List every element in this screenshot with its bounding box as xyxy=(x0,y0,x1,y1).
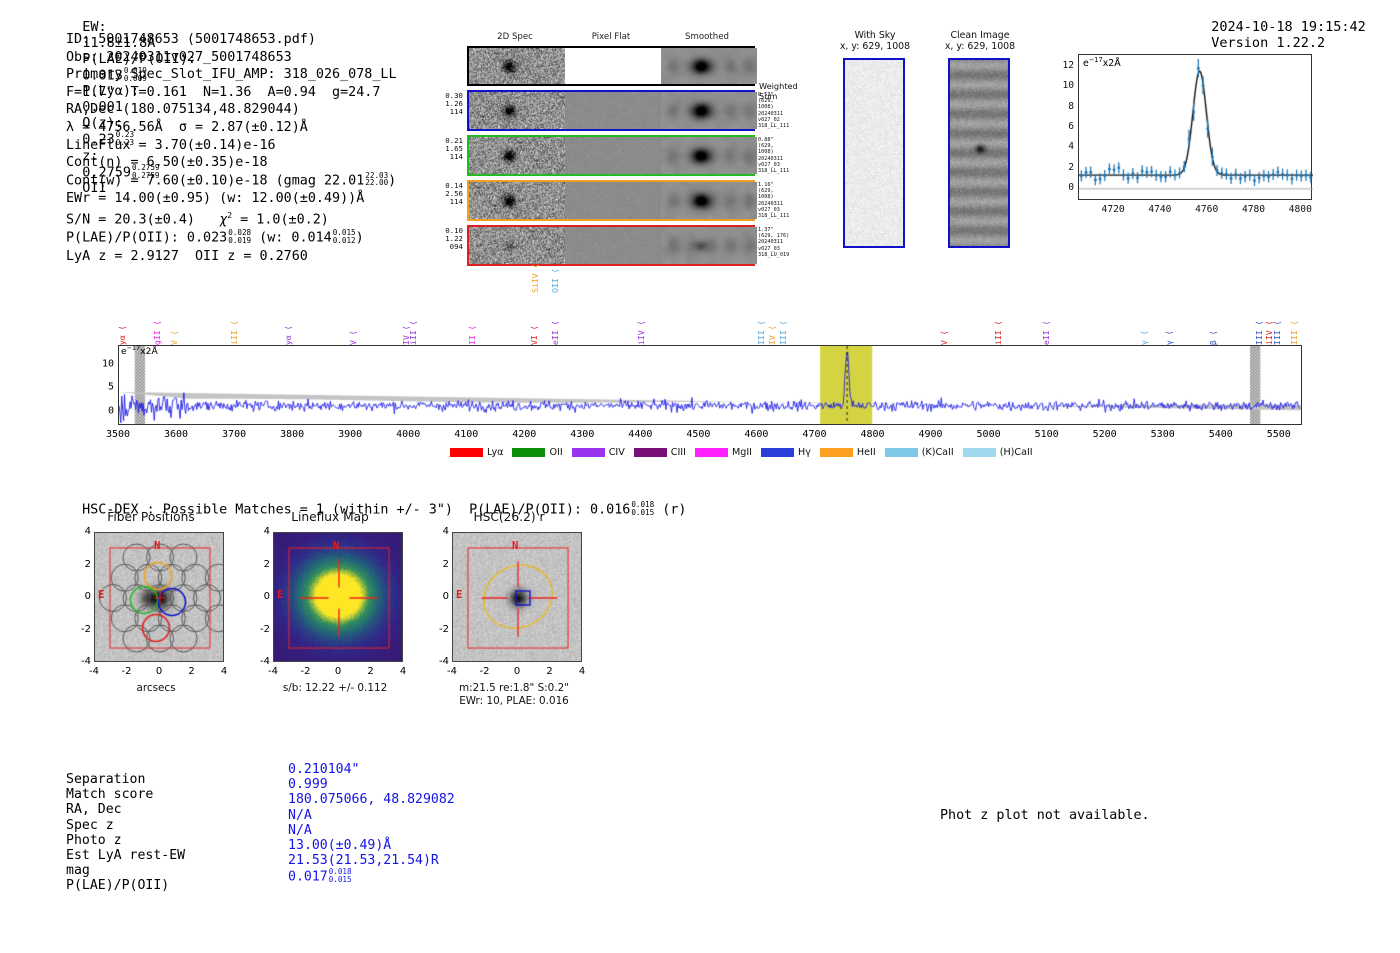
spec2d-row xyxy=(467,135,755,176)
spec2d-row-left-label: 0.211.65114 xyxy=(425,137,463,161)
lineplot-xtick: 4800 xyxy=(1289,204,1312,215)
panel-xlabel: m:21.5 re:1.8" S:0.2" xyxy=(424,682,604,695)
spectrum-line-name: SiIV xyxy=(530,273,540,293)
table-row-key: Est LyA rest-EW xyxy=(66,848,185,863)
panel-xtick: 2 xyxy=(546,666,552,677)
info-plae-w-lower: 0.012 xyxy=(333,237,356,245)
gmag-lower: 22.00 xyxy=(365,179,388,187)
spec2d-row-left-label: 0.142.56114 xyxy=(425,182,463,206)
legend-label: OII xyxy=(549,447,562,458)
legend-swatch xyxy=(695,448,728,457)
spec2d-cell-pixelflat xyxy=(565,48,661,84)
spec2d-meta-line: 318_LL_111 xyxy=(758,168,789,174)
info-lineflux: LineFlux = 3.70(±0.14)e-16 xyxy=(66,137,397,155)
legend-swatch xyxy=(820,448,853,457)
table-row-key: Separation xyxy=(66,772,145,787)
spec2d-cell-smoothed xyxy=(661,92,757,129)
panel-ytick: 0 xyxy=(246,591,270,602)
legend-item: OII xyxy=(512,447,562,458)
header-timestamp-version: 2024-10-18 19:15:42 Version 1.22.2 xyxy=(1195,3,1382,51)
spec2d-cell-smoothed xyxy=(661,182,757,219)
spec2d-row xyxy=(467,225,755,266)
panel-xtick: 0 xyxy=(335,666,341,677)
with-sky-title: With Sky x, y: 629, 1008 xyxy=(820,30,930,52)
panel-sublabel: EWr: 10, PLAE: 0.016 xyxy=(424,695,604,708)
lineplot-ytick: 6 xyxy=(1046,121,1074,132)
lineplot-ytick: 8 xyxy=(1046,101,1074,112)
timestamp: 2024-10-18 19:15:42 xyxy=(1211,19,1365,35)
detection-info-block: ID: 5001748653 (5001748653.pdf) Obs: 202… xyxy=(66,31,397,265)
table-row-value-text: 13.00(±0.49)Å xyxy=(288,838,391,853)
panel-ytick: 4 xyxy=(67,526,91,537)
spectrum-xtick: 3800 xyxy=(280,429,304,440)
table-row-value-text: 0.210104" xyxy=(288,762,359,777)
spectrum-xtick: 4700 xyxy=(802,429,826,440)
info-cont-n: Cont(n) = 6.50(±0.35)e-18 xyxy=(66,154,397,172)
spec2d-row xyxy=(467,90,755,131)
table-row-value-text: 0.017 xyxy=(288,870,328,885)
table-row-value-text: 0.999 xyxy=(288,777,328,792)
spectrum-line-label: SiIV ⟨ xyxy=(530,263,540,293)
clean-image-coords: x, y: 629, 1008 xyxy=(925,41,1035,52)
spec2d-cell-smoothed xyxy=(661,48,757,84)
hsc-plae-lower: 0.015 xyxy=(631,509,654,517)
table-row-key: Photo z xyxy=(66,833,122,848)
spectrum-xtick: 4100 xyxy=(454,429,478,440)
table-row-key: Match score xyxy=(66,787,153,802)
compass-east: E xyxy=(456,589,462,601)
panel-xtick: 2 xyxy=(188,666,194,677)
panel-xtick: 0 xyxy=(156,666,162,677)
spec2d-row-meta-label: 0.88"(629, 1008)20240311v027_03318_LL_11… xyxy=(758,137,789,174)
spec2d-meta-line: (629, 1008) xyxy=(758,143,789,155)
info-cont-w-close: ) xyxy=(388,173,396,188)
clean-image-cutout xyxy=(948,58,1010,248)
legend-label: (H)CaII xyxy=(1000,447,1033,458)
spec2d-meta-line: 318_LL_111 xyxy=(758,123,789,129)
legend-label: (K)CaII xyxy=(922,447,954,458)
spectrum-xtick: 4000 xyxy=(396,429,420,440)
legend-item: Hγ xyxy=(761,447,811,458)
table-row-value: 0.0170.0180.015 xyxy=(288,868,352,885)
spec2d-cell-smoothed xyxy=(661,227,757,264)
table-row-value: N/A xyxy=(288,808,312,823)
spec2d-row xyxy=(467,46,755,86)
spectrum-line-name: OII xyxy=(550,278,560,293)
spec2d-cell-2dspec xyxy=(469,227,565,264)
table-row-value: 0.999 xyxy=(288,777,328,792)
lineplot-ytick: 12 xyxy=(1046,60,1074,71)
info-params: F=1.7" T=0.161 N=1.36 A=0.94 g=24.7 xyxy=(66,84,397,102)
spectrum-line-label: OII ⟨ xyxy=(550,268,560,293)
info-id: ID: 5001748653 (5001748653.pdf) xyxy=(66,31,397,49)
legend-label: Lyα xyxy=(487,447,503,458)
panel-title: HSC(26.2) r xyxy=(424,510,594,524)
spectrum-xtick: 3500 xyxy=(106,429,130,440)
compass-north: N xyxy=(512,540,518,552)
table-row-value-text: N/A xyxy=(288,808,312,823)
spectrum-xtick: 4300 xyxy=(570,429,594,440)
legend-swatch xyxy=(761,448,794,457)
info-ewr: EWr = 14.00(±0.95) (w: 12.00(±0.49))Å xyxy=(66,190,397,208)
lineplot-ytick: 10 xyxy=(1046,80,1074,91)
lineplot-flux-annotation: e−17x2Å xyxy=(1083,56,1121,69)
legend-label: Hγ xyxy=(798,447,811,458)
table-row-value: 21.53(21.53,21.54)R xyxy=(288,853,439,868)
panel-ytick: -4 xyxy=(67,656,91,667)
sn-text: S/N = 20.3(±0.4) xyxy=(66,213,219,228)
spectrum-xtick: 3600 xyxy=(164,429,188,440)
legend-item: CIII xyxy=(634,447,686,458)
table-row-key: mag xyxy=(66,863,90,878)
legend-swatch xyxy=(885,448,918,457)
panel-xtick: -2 xyxy=(480,666,490,677)
spectrum-xtick: 5500 xyxy=(1267,429,1291,440)
legend-label: CIII xyxy=(671,447,686,458)
photz-unavailable-note: Phot z plot not available. xyxy=(940,808,1150,823)
info-plae: P(LAE)/P(OII): 0.0230.0280.019 (w: 0.014… xyxy=(66,229,397,247)
panel-ytick: 2 xyxy=(425,559,449,570)
panel-ytick: -2 xyxy=(67,624,91,635)
info-plae-close: ) xyxy=(356,231,364,246)
info-radec: RA,Dec (180.075134,48.829044) xyxy=(66,101,397,119)
compass-north: N xyxy=(333,540,339,552)
full-spectrum-axes: e−17x2Å xyxy=(118,345,1302,425)
panel-xlabel: arcsecs xyxy=(66,682,246,695)
info-cont-w: Cont(w) = 7.60(±0.10)e-18 (gmag 22.0122.… xyxy=(66,172,397,190)
lineplot-xtick: 4760 xyxy=(1195,204,1218,215)
info-cont-w-text: Cont(w) = 7.60(±0.10)e-18 (gmag 22.01 xyxy=(66,173,364,188)
spec2d-left-line: 114 xyxy=(425,153,463,161)
panel-ytick: -2 xyxy=(425,624,449,635)
legend-label: CIV xyxy=(609,447,625,458)
compass-north: N xyxy=(154,540,160,552)
panel-xtick: 4 xyxy=(400,666,406,677)
spec2d-meta-line: (629, 1008) xyxy=(758,188,789,200)
spec2d-cell-pixelflat xyxy=(565,182,661,219)
legend-swatch xyxy=(450,448,483,457)
spec2d-meta-line: 318_LU_019 xyxy=(758,252,789,258)
emission-line-fit-plot: e−17x2Å 024681012 47204740476047804800 xyxy=(1040,48,1312,226)
panel-ytick: 2 xyxy=(67,559,91,570)
spectrum-xtick: 5200 xyxy=(1093,429,1117,440)
panel-ytick: 2 xyxy=(246,559,270,570)
legend-item: MgII xyxy=(695,447,752,458)
cutout-panel: Lineflux MapNE-4-4-2-2002244s/b: 12.22 +… xyxy=(245,510,423,710)
panel-xtick: 2 xyxy=(367,666,373,677)
legend-swatch xyxy=(634,448,667,457)
info-plae-text: P(LAE)/P(OII): 0.023 xyxy=(66,231,227,246)
spec2d-cell-smoothed xyxy=(661,137,757,174)
spec2d-row-meta-label: 1.37"(629, 176)20240311v027_03318_LU_019 xyxy=(758,227,789,258)
spec2d-cell-2dspec xyxy=(469,48,565,84)
hsc-filter: (r) xyxy=(654,502,686,517)
table-row-value-text: N/A xyxy=(288,823,312,838)
lineplot-xtick: 4720 xyxy=(1102,204,1125,215)
spectrum-xtick: 5300 xyxy=(1151,429,1175,440)
panel-xtick: -4 xyxy=(447,666,457,677)
lineplot-ytick: 4 xyxy=(1046,141,1074,152)
table-row-key: RA, Dec xyxy=(66,802,122,817)
panel-xtick: 4 xyxy=(221,666,227,677)
spec2d-cell-pixelflat xyxy=(565,137,661,174)
panel-xtick: -4 xyxy=(89,666,99,677)
cutout-panel: Fiber PositionsNE-4-4-2-2002244arcsecs xyxy=(66,510,244,710)
spec2d-meta-line: (629, 1008) xyxy=(758,98,789,110)
panel-xtick: -4 xyxy=(268,666,278,677)
panel-title: Fiber Positions xyxy=(66,510,236,524)
legend-item: HeII xyxy=(820,447,876,458)
panel-ytick: 0 xyxy=(67,591,91,602)
legend-item: (H)CaII xyxy=(963,447,1033,458)
spectrum-xtick: 5100 xyxy=(1035,429,1059,440)
panel-xtick: 4 xyxy=(579,666,585,677)
table-row-key: Spec z xyxy=(66,818,114,833)
col-header-smoothed: Smoothed xyxy=(659,32,755,42)
compass-east: E xyxy=(98,589,104,601)
panel-ytick: -4 xyxy=(246,656,270,667)
panel-ytick: 0 xyxy=(425,591,449,602)
legend-item: CIV xyxy=(572,447,625,458)
info-primary-spec: Primary Spec_Slot_IFU_AMP: 318_026_078_L… xyxy=(66,66,397,84)
panel-xlabel: s/b: 12.22 +/- 0.112 xyxy=(245,682,425,695)
spec2d-left-line: 094 xyxy=(425,243,463,251)
col-header-2dspec: 2D Spec xyxy=(467,32,563,42)
spec2d-row-meta-label: 0.53"(629, 1008)20240311v027_02318_LL_11… xyxy=(758,92,789,129)
info-plae-w-text: (w: 0.014 xyxy=(251,231,332,246)
legend-item: Lyα xyxy=(450,447,503,458)
table-row-value-text: 21.53(21.53,21.54)R xyxy=(288,853,439,868)
table-row-value: 0.210104" xyxy=(288,762,359,777)
panel-xtick: -2 xyxy=(122,666,132,677)
lineplot-axes: e−17x2Å xyxy=(1078,54,1312,200)
spectrum-xtick: 3900 xyxy=(338,429,362,440)
cutout-panel: HSC(26.2) rNE-4-4-2-2002244m:21.5 re:1.8… xyxy=(424,510,602,710)
table-row-key: P(LAE)/P(OII) xyxy=(66,878,169,893)
with-sky-image xyxy=(843,58,905,248)
spectrum-xtick: 5400 xyxy=(1209,429,1233,440)
spec2d-left-line: 114 xyxy=(425,108,463,116)
spec2d-row xyxy=(467,180,755,221)
spectrum-xtick: 4400 xyxy=(628,429,652,440)
lineplot-xtick: 4740 xyxy=(1148,204,1171,215)
panel-xtick: -2 xyxy=(301,666,311,677)
spec2d-row-meta-label: 1.16"(629, 1008)20240311v027_03318_LL_11… xyxy=(758,182,789,219)
spectrum-xtick: 4200 xyxy=(512,429,536,440)
spec2d-row-left-label: 0.101.22094 xyxy=(425,227,463,251)
spectrum-ytick: 5 xyxy=(92,382,114,393)
spec2d-cell-pixelflat xyxy=(565,92,661,129)
table-row-value: 180.075066, 48.829082 xyxy=(288,792,455,807)
legend-swatch xyxy=(572,448,605,457)
panel-ytick: -2 xyxy=(246,624,270,635)
spec2d-row-left-label: 0.301.26114 xyxy=(425,92,463,116)
info-redshifts: LyA z = 2.9127 OII z = 0.2760 xyxy=(66,248,397,266)
two-d-spectrum-montage: 2D Spec Pixel Flat Smoothed Weighted Sum… xyxy=(425,32,770,252)
panel-xtick: 0 xyxy=(514,666,520,677)
spectrum-xtick: 4600 xyxy=(744,429,768,440)
clean-image-title: Clean Image x, y: 629, 1008 xyxy=(925,30,1035,52)
legend-label: HeII xyxy=(857,447,876,458)
compass-east: E xyxy=(277,589,283,601)
with-sky-coords: x, y: 629, 1008 xyxy=(820,41,930,52)
table-row-value: N/A xyxy=(288,823,312,838)
spec2d-cell-2dspec xyxy=(469,92,565,129)
info-obs: Obs: 20240311v027_5001748653 xyxy=(66,49,397,67)
legend-swatch xyxy=(512,448,545,457)
legend-item: (K)CaII xyxy=(885,447,954,458)
panel-title: Lineflux Map xyxy=(245,510,415,524)
spec2d-meta-line: 318_LL_111 xyxy=(758,213,789,219)
spectrum-xtick: 4500 xyxy=(686,429,710,440)
spec2d-left-line: 114 xyxy=(425,198,463,206)
col-header-pixelflat: Pixel Flat xyxy=(563,32,659,42)
lineplot-ytick: 2 xyxy=(1046,162,1074,173)
table-row-value-text: 180.075066, 48.829082 xyxy=(288,792,455,807)
spectrum-ytick: 0 xyxy=(92,405,114,416)
spec2d-cell-2dspec xyxy=(469,137,565,174)
table-value-lower: 0.015 xyxy=(329,876,352,884)
spectrum-xtick: 3700 xyxy=(222,429,246,440)
legend-label: MgII xyxy=(732,447,752,458)
table-row-value: 13.00(±0.49)Å xyxy=(288,838,391,853)
spec2d-cell-2dspec xyxy=(469,182,565,219)
legend-swatch xyxy=(963,448,996,457)
info-plae-lower: 0.019 xyxy=(228,237,251,245)
panel-ytick: 4 xyxy=(425,526,449,537)
info-sn-chi2: S/N = 20.3(±0.4) χ2 = 1.0(±0.2) xyxy=(66,207,397,229)
spectrum-flux-annotation: e−17x2Å xyxy=(121,344,158,357)
panel-ytick: -4 xyxy=(425,656,449,667)
chi2-value: = 1.0(±0.2) xyxy=(232,213,329,228)
spectrum-xtick: 4800 xyxy=(860,429,884,440)
lineplot-xtick: 4780 xyxy=(1242,204,1265,215)
spectrum-xtick: 4900 xyxy=(919,429,943,440)
spec2d-cell-pixelflat xyxy=(565,227,661,264)
lineplot-ytick: 0 xyxy=(1046,182,1074,193)
info-lambda-sigma: λ = 4756.56Å σ = 2.87(±0.12)Å xyxy=(66,119,397,137)
spectrum-xtick: 5000 xyxy=(977,429,1001,440)
panel-ytick: 4 xyxy=(246,526,270,537)
spectrum-ytick: 10 xyxy=(92,358,114,369)
spectrum-legend: LyαOIICIVCIIIMgIIHγHeII(K)CaII(H)CaII xyxy=(450,447,1033,458)
